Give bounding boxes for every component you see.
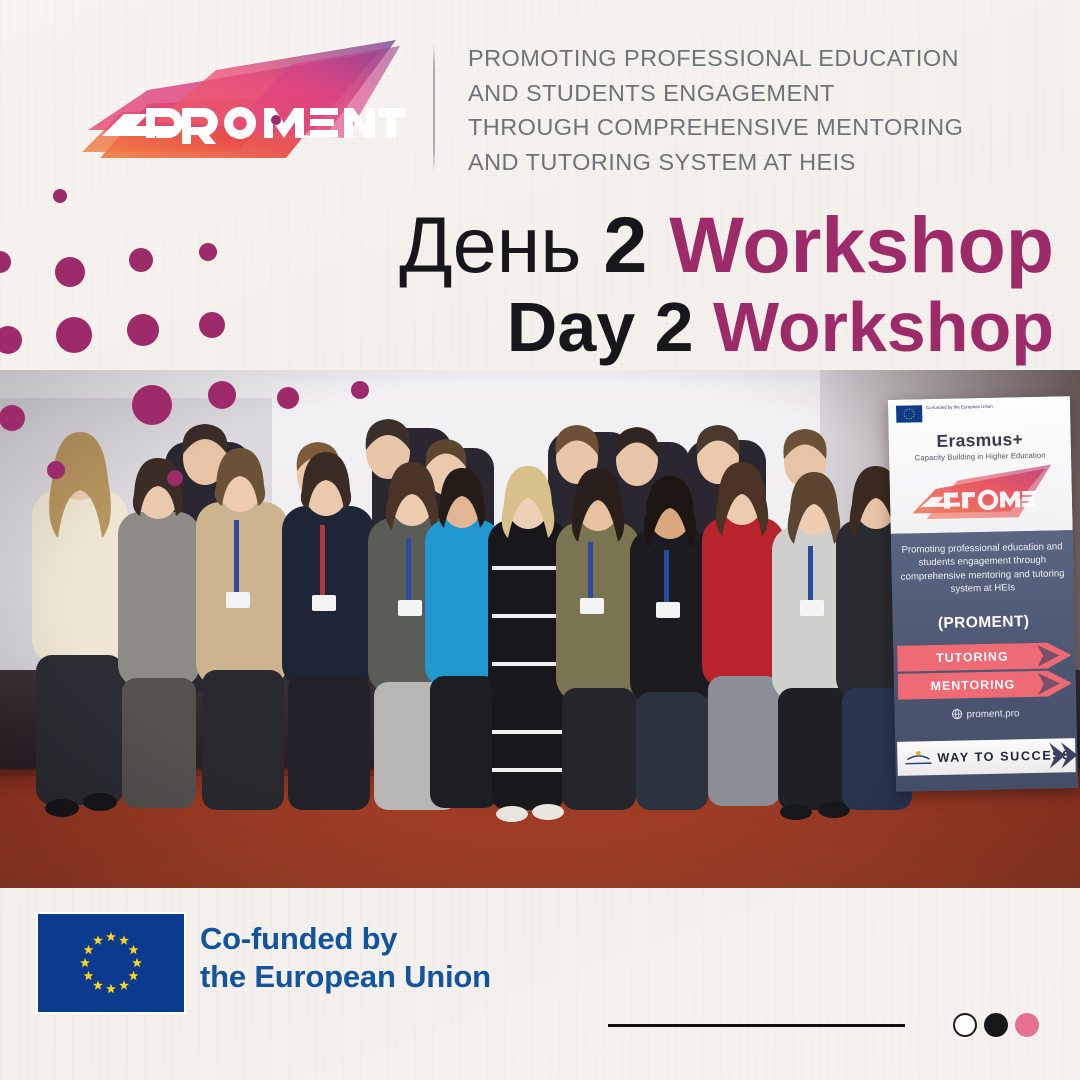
eu-flag-mini-icon bbox=[896, 405, 922, 423]
banner-arrow-mentoring-label: MENTORING bbox=[898, 671, 1049, 700]
banner-body: Promoting professional education and stu… bbox=[891, 530, 1078, 792]
footer-rule bbox=[608, 1024, 905, 1027]
title-ru-light: День bbox=[399, 200, 581, 289]
banner-arrow-mentoring: MENTORING bbox=[898, 670, 1073, 700]
rollup-banner: Co-funded by the European Union Erasmus+… bbox=[888, 396, 1078, 792]
banner-top: Co-funded by the European Union Erasmus+… bbox=[888, 396, 1073, 534]
banner-programme: Erasmus+ bbox=[889, 428, 1071, 453]
proment-logo-icon bbox=[78, 34, 408, 174]
tagline-line-2: AND STUDENTS ENGAGEMENT bbox=[468, 76, 1028, 111]
title-ru-bold: 2 bbox=[603, 200, 647, 289]
banner-url-text: proment.pro bbox=[966, 708, 1019, 720]
banner-url: proment.pro bbox=[894, 706, 1076, 724]
partner-mark-icon bbox=[901, 747, 935, 770]
banner-eu-note: Co-funded by the European Union bbox=[926, 403, 1016, 411]
tagline-line-4: AND TUTORING SYSTEM AT HEIS bbox=[468, 145, 1028, 180]
footer-dot-indicators bbox=[953, 1013, 1049, 1039]
header: PROMOTING PROFESSIONAL EDUCATION AND STU… bbox=[0, 0, 1080, 190]
banner-description: Promoting professional education and stu… bbox=[899, 540, 1066, 597]
dot-pink[interactable] bbox=[1015, 1013, 1039, 1037]
tagline-line-1: PROMOTING PROFESSIONAL EDUCATION bbox=[468, 41, 1028, 76]
title-english: Day 2 Workshop bbox=[0, 292, 1054, 362]
header-divider bbox=[433, 44, 435, 172]
title-russian: День 2 Workshop bbox=[0, 205, 1054, 284]
eu-flag-icon bbox=[38, 914, 184, 1012]
eu-text-line-1: Co-funded by bbox=[200, 920, 491, 958]
title-en-accent: Workshop bbox=[713, 288, 1054, 366]
title-ru-accent: Workshop bbox=[669, 200, 1054, 289]
group-photo: Co-funded by the European Union Erasmus+… bbox=[0, 370, 1080, 888]
globe-icon bbox=[951, 708, 962, 722]
banner-proment-logo-icon bbox=[905, 460, 1056, 525]
title-block: День 2 Workshop Day 2 Workshop bbox=[0, 205, 1054, 362]
chevron-right-icon bbox=[1043, 738, 1078, 773]
proment-logo bbox=[78, 34, 408, 174]
decorative-dot bbox=[53, 189, 67, 203]
banner-footer: WAY TO SUCCESS bbox=[897, 738, 1076, 776]
banner-arrow-tutoring-label: TUTORING bbox=[897, 643, 1048, 672]
footer: Co-funded by the European Union bbox=[0, 888, 1080, 1080]
banner-arrow-tutoring: TUTORING bbox=[897, 642, 1072, 672]
tagline-line-3: THROUGH COMPREHENSIVE MENTORING bbox=[468, 110, 1028, 145]
dot-white[interactable] bbox=[953, 1013, 977, 1037]
banner-acronym: (PROMENT) bbox=[892, 612, 1074, 634]
dot-black[interactable] bbox=[984, 1013, 1008, 1037]
title-en-bold: Day 2 bbox=[507, 288, 694, 366]
eu-flag bbox=[38, 914, 184, 1012]
poster-canvas: PROMOTING PROFESSIONAL EDUCATION AND STU… bbox=[0, 0, 1080, 1080]
eu-text-line-2: the European Union bbox=[200, 958, 491, 996]
header-tagline: PROMOTING PROFESSIONAL EDUCATION AND STU… bbox=[468, 41, 1028, 179]
eu-funding-text: Co-funded by the European Union bbox=[200, 920, 491, 996]
